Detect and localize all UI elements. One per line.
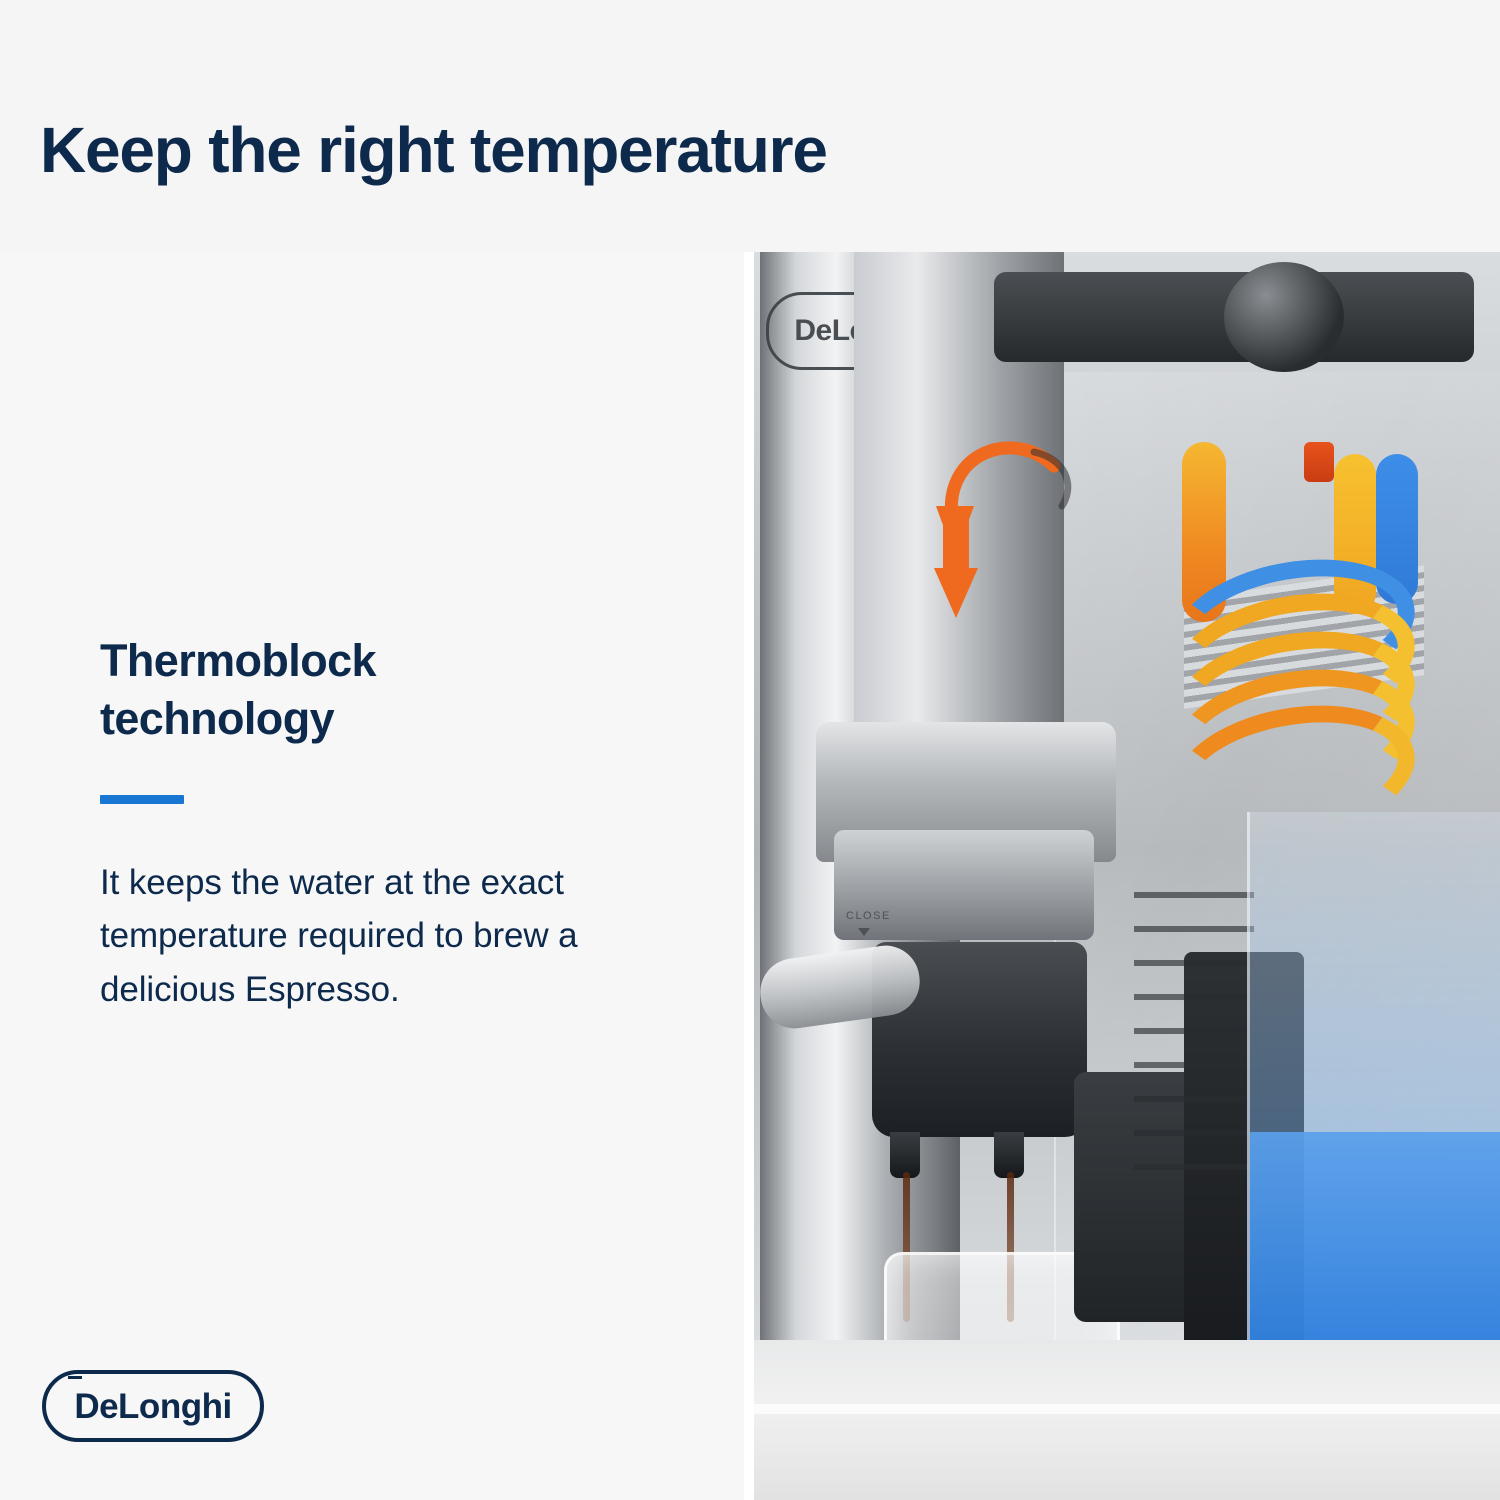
logo-text: DeLonghi <box>74 1389 231 1424</box>
flow-arrow-icon <box>934 422 1084 642</box>
feature-block: Thermoblock technology It keeps the wate… <box>100 632 660 1051</box>
page-title: Keep the right temperature <box>40 115 827 185</box>
feature-description: It keeps the water at the exact temperat… <box>100 856 620 1016</box>
product-photo: DeLonghi CLOSE <box>754 252 1500 1500</box>
left-content-panel: Thermoblock technology It keeps the wate… <box>0 252 744 1500</box>
internal-rails <box>1134 892 1254 1192</box>
triangle-down-icon <box>858 928 870 936</box>
counter-surface <box>754 1340 1500 1500</box>
thermoblock-coil-assembly <box>1164 442 1444 842</box>
heating-coil <box>1164 562 1424 822</box>
group-head-ring <box>834 830 1094 940</box>
lock-indicator-label: CLOSE <box>846 910 891 922</box>
feature-title: Thermoblock technology <box>100 632 530 747</box>
delonghi-logo: DeLonghi <box>42 1370 264 1442</box>
water-tank <box>1247 812 1500 1432</box>
logo-macron-icon <box>68 1376 82 1379</box>
promo-banner: Keep the right temperature Thermoblock t… <box>0 0 1500 1500</box>
header-band: Keep the right temperature <box>0 0 1500 252</box>
heater-connector <box>1304 442 1334 482</box>
accent-divider <box>100 795 184 804</box>
counter-edge-highlight <box>754 1404 1500 1414</box>
machine-knob <box>1224 262 1344 372</box>
